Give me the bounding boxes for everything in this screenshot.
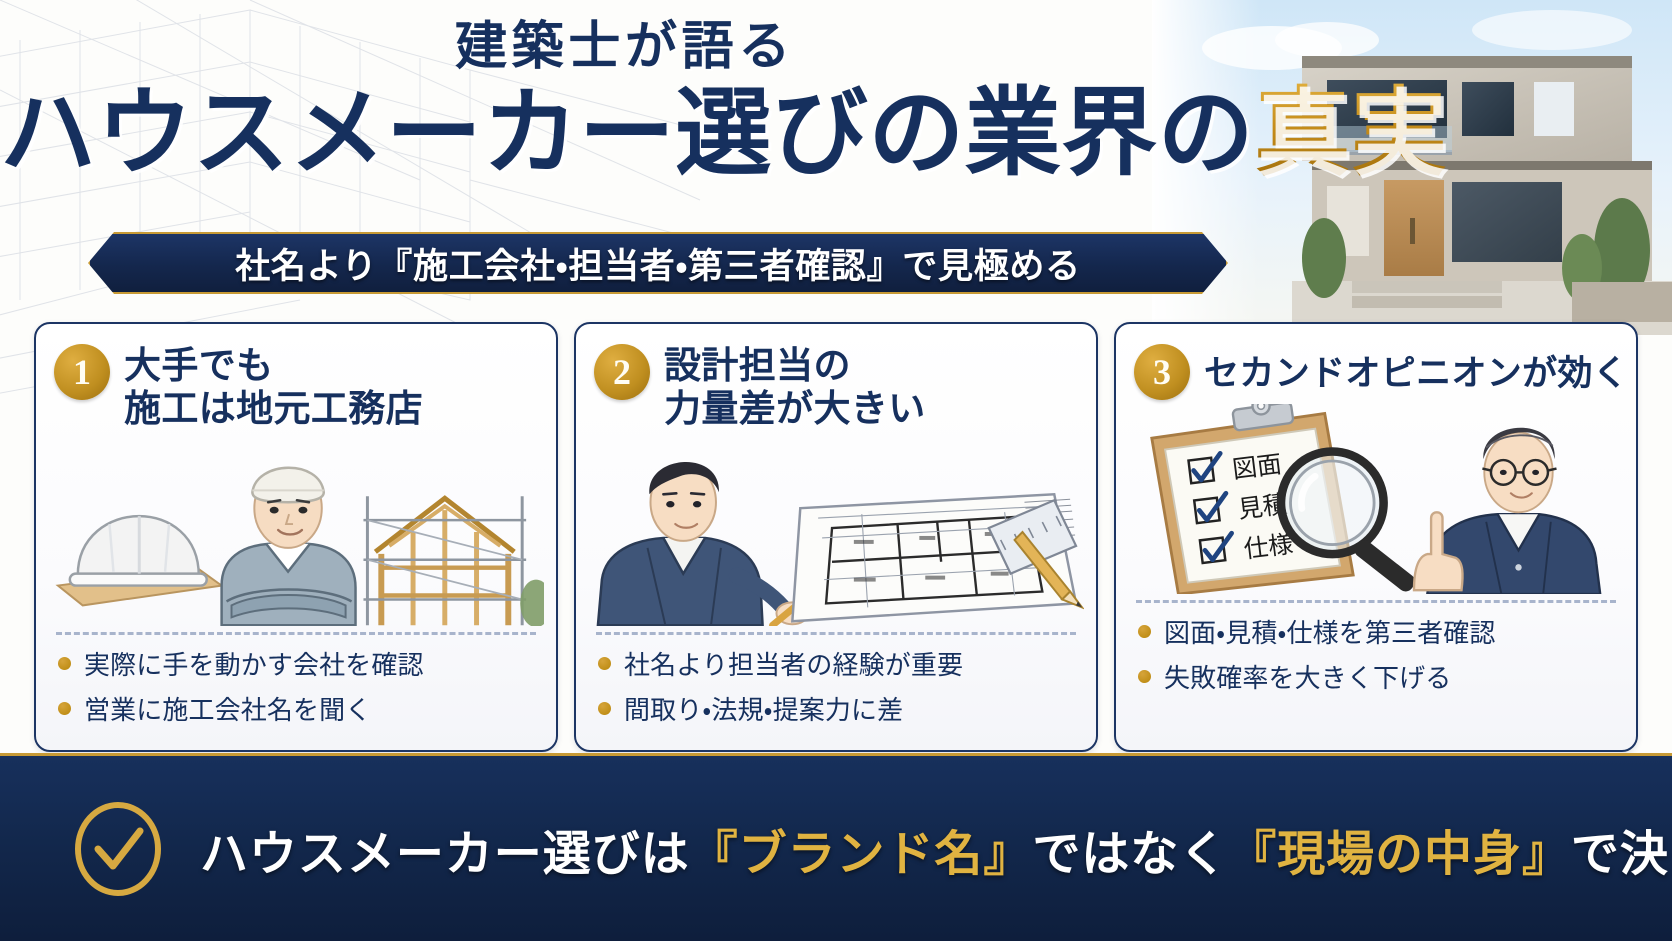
framed-house-scaffolding-icon [363, 496, 544, 626]
checklist-label-0: 図面 [1231, 449, 1284, 484]
bullet-dot-icon [598, 702, 611, 715]
headline: ハウスメーカー選びの業界の真実 [0, 84, 1250, 184]
bullet-dot-icon [58, 702, 71, 715]
ribbon-text: 社名より『施工会社・担当者・第三者確認』で見極める [235, 238, 1081, 289]
card-3: 3 セカンドオピニオンが効く [1114, 322, 1638, 752]
headline-gold-part: 真実 [1254, 80, 1447, 187]
card-1-title-line2: 施工は地元工務店 [124, 389, 423, 432]
card-3-divider [1136, 600, 1616, 603]
bullet-dot-icon [1138, 670, 1151, 683]
card-2-illustration [588, 436, 1084, 626]
card-1-header: 1 大手でも 施工は地元工務店 [36, 324, 556, 432]
advisor-icon [1414, 428, 1600, 594]
footer-part-4: で決まる [1571, 828, 1672, 881]
card-2-divider [596, 632, 1076, 635]
footer-part-3: 『現場の中身』 [1228, 828, 1571, 881]
card-2-bullet-2: 間取り・法規・提案力に差 [624, 690, 903, 727]
footer-banner: ハウスメーカー選びは『ブランド名』ではなく『現場の中身』で決まる [0, 753, 1672, 941]
card-3-illustration: 図面 見積 仕様 [1128, 404, 1624, 594]
card-2-bullets: 社名より担当者の経験が重要 間取り・法規・提案力に差 [598, 645, 1074, 727]
bullet-dot-icon [598, 657, 611, 670]
list-item: 営業に施工会社名を聞く [58, 690, 534, 727]
architect-icon [598, 462, 818, 625]
card-1-number-badge: 1 [54, 344, 110, 400]
bullet-dot-icon [58, 657, 71, 670]
card-3-bullet-2: 失敗確率を大きく下げる [1164, 658, 1451, 695]
headline-navy-part: ハウスメーカー選びの業界の [0, 80, 1254, 187]
ribbon-shape: 社名より『施工会社・担当者・第三者確認』で見極める [88, 232, 1228, 294]
footer-text: ハウスメーカー選びは『ブランド名』ではなく『現場の中身』で決まる [200, 814, 1672, 884]
card-1-title-line1: 大手でも [124, 346, 423, 389]
construction-worker-icon [222, 468, 356, 625]
card-2-title-line2: 力量差が大きい [664, 389, 926, 432]
title-block: 建築士が語る ハウスメーカー選びの業界の真実 [0, 22, 1250, 184]
footer-part-0: ハウスメーカー選びは [200, 828, 690, 881]
card-2: 2 設計担当の 力量差が大きい [574, 322, 1098, 752]
card-1-illustration [48, 436, 544, 626]
card-2-bullet-1: 社名より担当者の経験が重要 [624, 645, 963, 682]
card-row: 1 大手でも 施工は地元工務店 [34, 322, 1638, 752]
card-1-bullet-2: 営業に施工会社名を聞く [84, 690, 371, 727]
card-3-bullet-1: 図面・見積・仕様を第三者確認 [1164, 613, 1496, 650]
card-3-title: セカンドオピニオンが効く [1204, 344, 1628, 395]
check-circle-icon [70, 801, 166, 897]
footer-part-2: ではなく [1032, 828, 1228, 881]
card-2-number-badge: 2 [594, 344, 650, 400]
card-2-title: 設計担当の 力量差が大きい [664, 344, 926, 432]
card-3-header: 3 セカンドオピニオンが効く [1116, 324, 1636, 400]
card-1-bullets: 実際に手を動かす会社を確認 営業に施工会社名を聞く [58, 645, 534, 727]
list-item: 社名より担当者の経験が重要 [598, 645, 1074, 682]
card-3-bullets: 図面・見積・仕様を第三者確認 失敗確率を大きく下げる [1138, 613, 1614, 695]
card-2-header: 2 設計担当の 力量差が大きい [576, 324, 1096, 432]
hard-hat-icon [70, 516, 207, 585]
card-1-divider [56, 632, 536, 635]
kicker-text: 建築士が語る [0, 22, 1250, 74]
list-item: 失敗確率を大きく下げる [1138, 658, 1614, 695]
list-item: 図面・見積・仕様を第三者確認 [1138, 613, 1614, 650]
list-item: 間取り・法規・提案力に差 [598, 690, 1074, 727]
card-3-number-badge: 3 [1134, 344, 1190, 400]
bullet-dot-icon [1138, 625, 1151, 638]
card-2-title-line1: 設計担当の [664, 346, 926, 389]
card-1-title: 大手でも 施工は地元工務店 [124, 344, 423, 432]
card-3-title-line1: セカンドオピニオンが効く [1204, 354, 1628, 395]
infographic-root: 建築士が語る ハウスメーカー選びの業界の真実 社名より『施工会社・担当者・第三者… [0, 0, 1672, 941]
card-1: 1 大手でも 施工は地元工務店 [34, 322, 558, 752]
subtitle-ribbon: 社名より『施工会社・担当者・第三者確認』で見極める [88, 232, 1228, 294]
list-item: 実際に手を動かす会社を確認 [58, 645, 534, 682]
card-1-bullet-1: 実際に手を動かす会社を確認 [84, 645, 424, 682]
footer-part-1: 『ブランド名』 [690, 828, 1033, 881]
